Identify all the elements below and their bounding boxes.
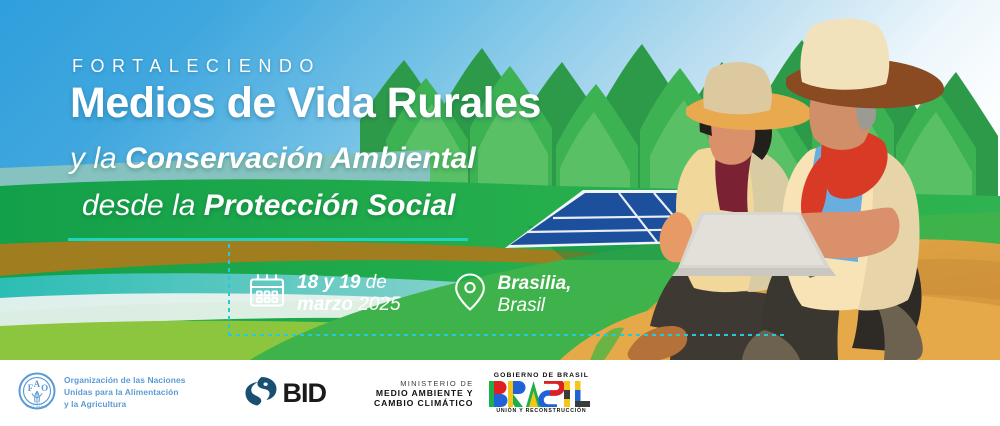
gobierno-brasil-top: GOBIERNO DE BRASIL <box>489 372 593 379</box>
fao-line-3: y la Agricultura <box>64 399 186 411</box>
event-banner: FORTALECIENDO Medios de Vida Rurales y l… <box>0 0 1000 426</box>
ministerio-line-2: MEDIO AMBIENTE Y <box>374 388 473 398</box>
bid-logo: BID <box>244 376 327 411</box>
event-date: 18 y 19 de marzo 2025 <box>248 272 401 315</box>
subtitle-2-bold: Protección Social <box>204 189 456 222</box>
subtitle-line-2: desde la Protección Social <box>82 189 456 223</box>
subtitle-1-light: y la <box>70 142 125 175</box>
event-location-text: Brasilia, Brasil <box>498 273 572 316</box>
eyebrow-text: FORTALECIENDO <box>72 56 321 77</box>
fao-line-1: Organización de las Naciones <box>64 375 186 387</box>
fao-emblem-icon: F A O FIAT PANIS <box>18 372 56 415</box>
gobierno-brasil-logo: GOBIERNO DE BRASIL <box>489 372 593 414</box>
svg-text:A: A <box>34 378 41 388</box>
bid-emblem-icon <box>244 376 278 411</box>
logo-row: F A O FIAT PANIS Organización de las Nac… <box>0 360 640 426</box>
event-location: Brasilia, Brasil <box>453 272 572 317</box>
logo-footer: F A O FIAT PANIS Organización de las Nac… <box>0 360 1000 426</box>
subtitle-2-light: desde la <box>82 189 204 222</box>
map-pin-icon <box>453 272 487 317</box>
illustration-scene: FORTALECIENDO Medios de Vida Rurales y l… <box>0 0 1000 360</box>
bid-wordmark: BID <box>283 378 327 409</box>
ministerio-line-1: MINISTERIO DE <box>374 379 473 388</box>
gobierno-brasil-bottom: UNIÓN Y RECONSTRUCCIÓN <box>489 408 593 414</box>
vertical-dotted-divider <box>228 244 230 336</box>
fao-text: Organización de las Naciones Unidas para… <box>64 375 186 411</box>
calendar-icon <box>248 272 286 315</box>
ministerio-line-3: CAMBIO CLIMÁTICO <box>374 398 473 408</box>
date-month: marzo <box>297 294 353 315</box>
accent-rule <box>68 238 468 241</box>
date-days: 18 y 19 <box>297 272 360 293</box>
fao-logo: F A O FIAT PANIS Organización de las Nac… <box>18 372 186 415</box>
fao-line-2: Unidas para la Alimentación <box>64 387 186 399</box>
subtitle-line-1: y la Conservación Ambiental <box>70 142 476 176</box>
date-de: de <box>360 272 386 293</box>
svg-text:O: O <box>41 383 48 393</box>
ministerio-logo: MINISTERIO DE MEDIO AMBIENTE Y CAMBIO CL… <box>374 379 473 408</box>
location-city: Brasilia, <box>498 273 572 294</box>
event-date-text: 18 y 19 de marzo 2025 <box>297 272 401 315</box>
date-year: 2025 <box>353 294 401 315</box>
subtitle-1-bold: Conservación Ambiental <box>125 142 476 175</box>
event-meta: 18 y 19 de marzo 2025 Brasilia, Brasil <box>248 272 571 317</box>
location-country: Brasil <box>498 295 546 316</box>
page-title: Medios de Vida Rurales <box>70 79 541 128</box>
svg-text:FIAT PANIS: FIAT PANIS <box>26 404 47 408</box>
horizontal-dotted-divider <box>228 334 788 336</box>
brasil-wordmark-icon <box>489 381 593 407</box>
